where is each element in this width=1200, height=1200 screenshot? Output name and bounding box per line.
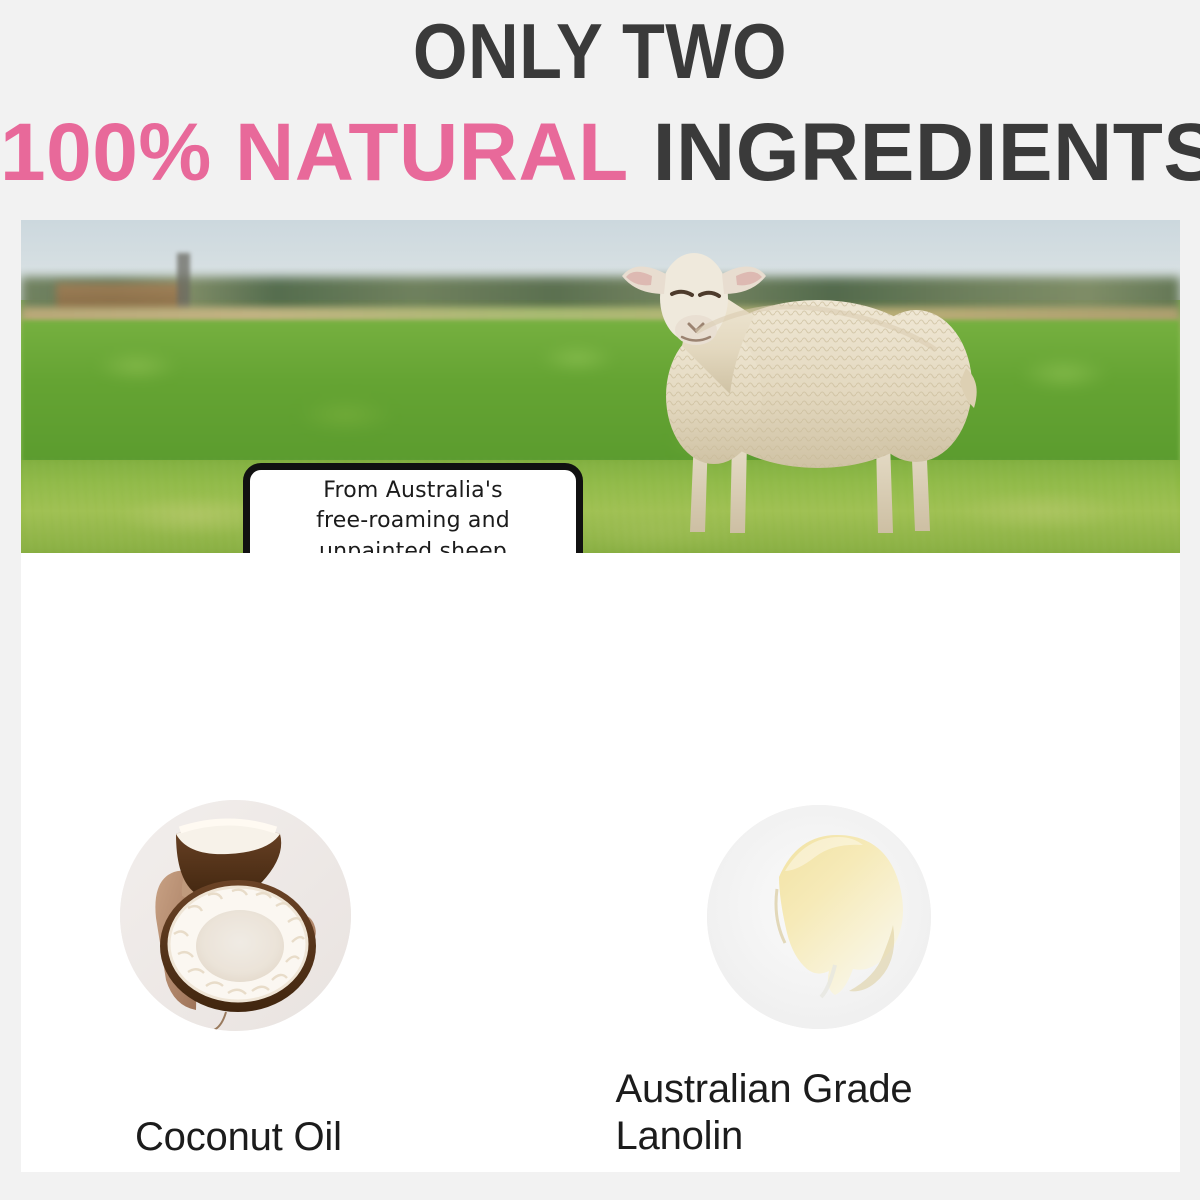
headline-line-two: 100% NATURALINGREDIENTS [0,112,1200,194]
ingredient-column-coconut: Coconut Oil Our Malaysian Coconut Oil is… [21,553,601,1172]
coconut-photo [120,800,351,1031]
sheep-photo [586,236,986,553]
tower-shape [177,253,190,310]
lanolin-swatch-photo [707,805,931,1029]
content-card: From Australia's free-roaming and unpain… [21,220,1180,1172]
headline-block: ONLY TWO 100% NATURALINGREDIENTS [0,0,1200,194]
infographic-page: ONLY TWO 100% NATURALINGREDIENTS [0,0,1200,1200]
headline-natural-text: 100% NATURAL [0,107,629,198]
speech-bubble: From Australia's free-roaming and unpain… [243,463,583,553]
speech-bubble-text: From Australia's free-roaming and unpain… [298,476,528,553]
ingredient-title-lanolin: Australian Grade Lanolin [616,1066,1076,1160]
ingredients-section: Coconut Oil Our Malaysian Coconut Oil is… [21,553,1180,1172]
speech-bubble-box: From Australia's free-roaming and unpain… [243,463,583,553]
ingredient-title-coconut: Coconut Oil [135,1114,595,1161]
headline-line-one: ONLY TWO [60,12,1140,90]
hero-banner: From Australia's free-roaming and unpain… [21,220,1180,553]
ingredient-column-lanolin: Australian Grade Lanolin Pure Lanolin, n… [601,553,1181,1172]
headline-ingredients-text: INGREDIENTS [653,107,1200,198]
